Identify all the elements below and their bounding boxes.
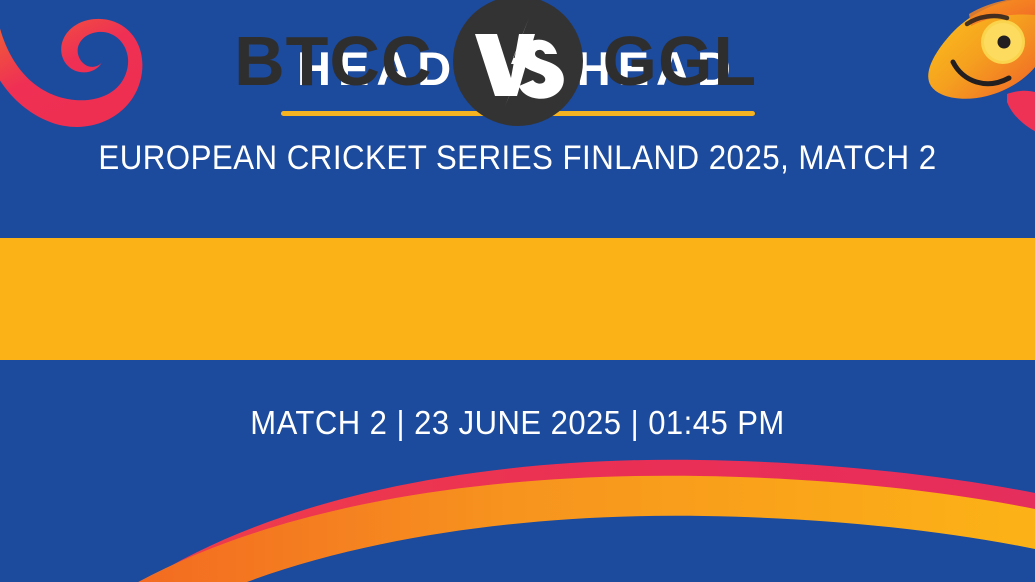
curved-ribbon-icon: [0, 438, 1035, 582]
versus-band: [0, 238, 1035, 360]
vs-lightning-icon: [453, 0, 583, 126]
vs-badge: [453, 0, 583, 126]
home-team-name: BTCC: [218, 26, 453, 96]
away-team-name: GGL: [583, 26, 818, 96]
versus-row: BTCC GGL: [0, 0, 1035, 122]
match-info-line: MATCH 2 | 23 JUNE 2025 | 01:45 PM: [31, 404, 1004, 442]
head-to-head-poster: HEAD TO HEAD EUROPEAN CRICKET SERIES FIN…: [0, 0, 1035, 582]
